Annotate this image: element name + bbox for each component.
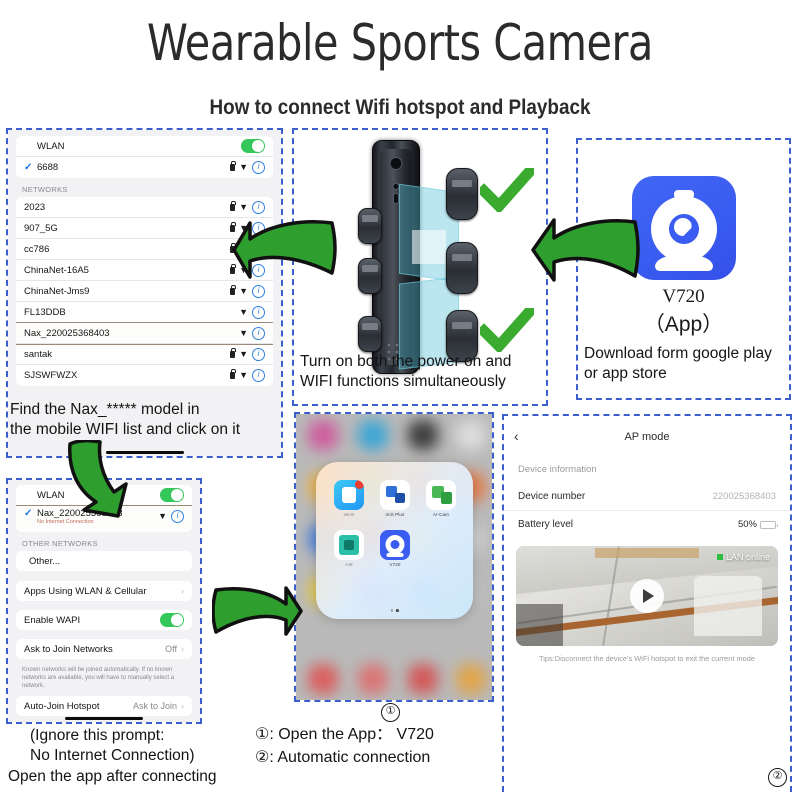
connected-network-row[interactable]: ✓6688 ▼ i — [16, 157, 273, 178]
switch-body-1 — [358, 208, 382, 244]
settings-row[interactable]: Enable WAPI — [16, 610, 192, 630]
app-name: V720 — [578, 286, 789, 308]
check-icon: ✓ — [24, 508, 33, 519]
wifi-icon: ▼ — [239, 350, 248, 359]
switch-zoom-1 — [446, 168, 478, 220]
folder-app-3-label: AI-Cam — [426, 512, 456, 517]
info-icon[interactable]: i — [252, 285, 265, 298]
ap-mode-step-marker: ② — [768, 768, 787, 787]
folder-page-dots — [390, 609, 398, 612]
settings-row-label: Auto-Join Hotspot — [24, 701, 100, 712]
settings-row-label: Enable WAPI — [24, 615, 80, 626]
app-folder[interactable]: ▪▪▪ ▪▪ miS Plus AI-Cam — [316, 462, 473, 619]
check-mark-icon-2 — [480, 308, 534, 352]
settings-row-label: Ask to Join Networks — [24, 644, 113, 655]
home-caption-line2: ②: Automatic connection — [255, 746, 495, 769]
home-caption-line1: ①: Open the App： V720 — [255, 723, 495, 746]
chevron-right-icon: › — [181, 701, 184, 711]
check-mark-icon-1 — [480, 168, 534, 212]
network-name: Nax_220025368403 — [24, 328, 110, 339]
settings-wlan-toggle[interactable] — [160, 488, 184, 502]
other-row[interactable]: Other... — [16, 551, 192, 571]
network-row[interactable]: SJSWFWZX▼i — [16, 365, 273, 386]
folder-app-2[interactable]: miS Plus — [380, 480, 410, 517]
ap-mode-panel: ‹ AP mode Device information Device numb… — [502, 414, 792, 792]
device-number-label: Device number — [518, 491, 585, 502]
device-number-row: Device number 220025368403 — [504, 483, 790, 511]
network-name: 907_5G — [24, 223, 58, 234]
ap-nav-bar: ‹ AP mode — [504, 424, 790, 450]
other-card: Other... — [16, 551, 192, 571]
other-networks-header: OTHER NETWORKS — [8, 532, 200, 551]
tips-text: Tips:Disconnect the device's WiFi hotspo… — [504, 646, 790, 665]
settings-toggle[interactable] — [160, 613, 184, 627]
app-caption-line1: Download form google play — [584, 344, 789, 364]
home-screen-step-marker: ① — [381, 703, 400, 722]
network-name: 2023 — [24, 202, 45, 213]
battery-level-label: Battery level — [518, 519, 573, 530]
wlan-label: WLAN — [37, 141, 64, 152]
network-name: SJSWFWZX — [24, 370, 77, 381]
switch-body-2 — [358, 258, 382, 294]
arrow-down-left — [62, 440, 146, 520]
network-row[interactable]: Nax_220025368403▼i — [16, 323, 273, 344]
folder-app-2-label: miS Plus — [380, 512, 410, 517]
video-preview[interactable]: LAN online — [516, 546, 778, 646]
page-subtitle: How to connect Wifi hotspot and Playback — [40, 96, 760, 120]
settings-caption-line2: No Internet Connection) — [8, 746, 258, 766]
info-icon[interactable]: i — [252, 327, 265, 340]
switch-body-3 — [358, 316, 382, 352]
arrow-right-to-left-2 — [530, 212, 640, 288]
switch-zoom-2 — [446, 242, 478, 294]
folder-app-1[interactable]: ▪▪▪ ▪▪ — [334, 480, 364, 517]
settings-caption-line1: (Ignore this prompt: — [8, 726, 258, 746]
battery-icon — [760, 521, 776, 529]
network-name: ChinaNet-Jms9 — [24, 286, 89, 297]
wlan-toggle[interactable] — [241, 139, 265, 153]
home-screen-panel: ▪▪▪ ▪▪ miS Plus AI-Cam — [294, 412, 494, 702]
folder-app-v720-label: V720 — [380, 562, 410, 567]
check-icon: ✓ — [24, 162, 33, 173]
folder-app-4-label: ▪ ▪▪ — [334, 562, 364, 567]
settings-row[interactable]: Apps Using WLAN & Cellular› — [16, 581, 192, 601]
settings-card: Apps Using WLAN & Cellular› — [16, 581, 192, 601]
info-icon[interactable]: i — [252, 201, 265, 214]
connected-network-label: 6688 — [37, 162, 58, 173]
device-caption-line2: WIFI functions simultaneously — [300, 372, 550, 392]
wlan-card: WLAN ✓6688 ▼ i — [16, 136, 273, 178]
ap-mode-screen: ‹ AP mode Device information Device numb… — [504, 424, 790, 798]
settings-row-value: Off — [165, 644, 177, 654]
wifi-icon: ▼ — [239, 308, 248, 317]
lan-status-badge: LAN online — [717, 552, 770, 562]
wifi-icon: ▼ — [239, 203, 248, 212]
info-icon[interactable]: i — [252, 369, 265, 382]
info-icon[interactable]: i — [252, 348, 265, 361]
settings-card: Enable WAPI — [16, 610, 192, 630]
chevron-right-icon: › — [181, 644, 184, 654]
app-caption-line2: or app store — [584, 364, 789, 384]
network-name: ChinaNet-16A5 — [24, 265, 89, 276]
settings-rows: Apps Using WLAN & Cellular›Enable WAPIAs… — [8, 581, 200, 716]
status-dot-icon — [717, 554, 723, 560]
info-icon[interactable]: i — [171, 510, 184, 523]
device-information-label: Device information — [504, 450, 790, 483]
settings-row-label: Apps Using WLAN & Cellular — [24, 586, 147, 597]
ap-title: AP mode — [504, 431, 790, 443]
settings-card: Ask to Join NetworksOff› — [16, 639, 192, 659]
app-caption: Download form google play or app store — [584, 344, 789, 385]
device-caption: Turn on both the power on and WIFI funct… — [300, 352, 550, 393]
lock-icon — [230, 164, 235, 171]
wifi-icon: ▼ — [239, 163, 248, 172]
lock-icon — [230, 351, 235, 358]
home-screen-caption: ①: Open the App： V720 ②: Automatic conne… — [255, 723, 495, 769]
network-row[interactable]: santak▼i — [16, 344, 273, 365]
phone-home-screen: ▪▪▪ ▪▪ miS Plus AI-Cam — [296, 414, 492, 700]
lock-icon — [230, 372, 235, 379]
app-sublabel: （App） — [578, 308, 789, 338]
settings-row[interactable]: Auto-Join HotspotAsk to Join› — [16, 696, 192, 716]
wifi-list-caption-line1: Find the Nax_***** model in — [10, 400, 295, 420]
network-name: santak — [24, 349, 52, 360]
home-indicator — [65, 717, 143, 721]
arrow-right-to-left-1 — [232, 215, 337, 285]
device-caption-line1: Turn on both the power on and — [300, 352, 550, 372]
chevron-left-icon[interactable]: ‹ — [514, 429, 519, 443]
info-icon[interactable]: i — [252, 161, 265, 174]
play-icon[interactable] — [630, 579, 664, 613]
folder-app-1-label: ▪▪▪ ▪▪ — [334, 512, 364, 517]
network-name: FL13DDB — [24, 307, 66, 318]
wifi-icon: ▼ — [239, 329, 248, 338]
wifi-list-caption: Find the Nax_***** model in the mobile W… — [10, 400, 295, 441]
networks-section-header: NETWORKS — [8, 178, 281, 197]
settings-row[interactable]: Ask to Join NetworksOff› — [16, 639, 192, 659]
wifi-list-caption-line2: the mobile WIFI list and click on it — [10, 420, 295, 440]
v720-app-icon[interactable] — [632, 176, 736, 280]
folder-app-v720[interactable]: V720 — [380, 530, 410, 567]
lock-icon — [230, 288, 235, 295]
settings-wlan-label: WLAN — [37, 490, 64, 501]
device-number-value: 220025368403 — [713, 491, 776, 502]
network-row[interactable]: FL13DDB▼i — [16, 302, 273, 323]
other-label: Other... — [29, 556, 60, 567]
wifi-icon: ▼ — [239, 371, 248, 380]
info-icon[interactable]: i — [252, 306, 265, 319]
settings-card: Auto-Join HotspotAsk to Join› — [16, 696, 192, 716]
settings-footnote: Known networks will be joined automatica… — [8, 662, 200, 696]
arrow-left-to-right — [212, 580, 304, 642]
wifi-settings-caption: (Ignore this prompt: No Internet Connect… — [8, 726, 258, 787]
wlan-toggle-row[interactable]: WLAN — [16, 136, 273, 157]
folder-app-4[interactable]: ▪ ▪▪ — [334, 530, 364, 567]
settings-row-value: Ask to Join — [133, 701, 177, 711]
settings-caption-line3: Open the app after connecting — [8, 767, 258, 787]
folder-app-3[interactable]: AI-Cam — [426, 480, 456, 517]
lock-icon — [230, 204, 235, 211]
battery-level-row: Battery level 50% — [504, 511, 790, 538]
wifi-icon: ▼ — [239, 287, 248, 296]
page-title: Wearable Sports Camera — [32, 14, 768, 72]
webcam-icon — [651, 196, 717, 262]
battery-level-value: 50% — [738, 519, 757, 530]
chevron-right-icon: › — [181, 586, 184, 596]
callout-glass-3 — [412, 230, 446, 264]
wifi-icon: ▼ — [158, 512, 167, 521]
network-name: cc786 — [24, 244, 49, 255]
